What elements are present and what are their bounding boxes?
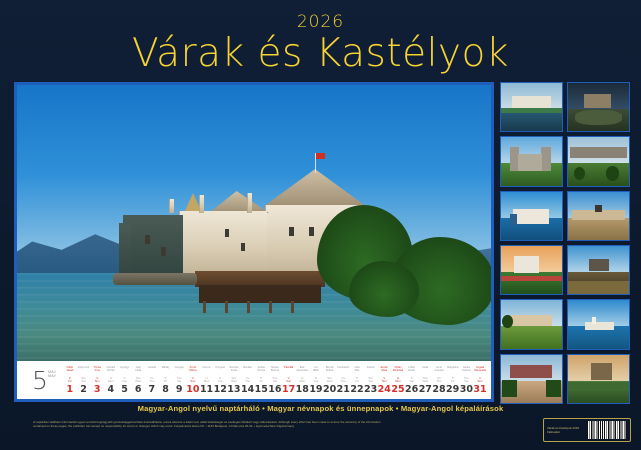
calendar-day-18[interactable]: Erik AlexandraH Mon18 [295, 363, 309, 397]
thumbnail-brick-castle-avenue[interactable] [500, 354, 563, 404]
thumbnail-manor-house-lawn[interactable] [500, 299, 563, 349]
chimney-c [247, 193, 252, 213]
day-nameday-25: Orbán Pünkösd [391, 363, 405, 377]
poster-header: 2026 Várak és Kastélyok [0, 0, 641, 80]
day-number-18: 18 [296, 385, 309, 398]
calendar-poster: 2026 Várak és Kastélyok [0, 0, 641, 450]
calendar-day-6[interactable]: Ivett FridaSze Wed6 [131, 363, 145, 397]
tagline: Magyar-Angol nyelvű naptárháló • Magyar … [0, 404, 641, 413]
wooden-gallery-deck [199, 285, 321, 303]
flag [316, 153, 325, 159]
thumbnail-ground [568, 218, 629, 240]
calendar-day-17[interactable]: PaszkálV Sun17 [282, 363, 296, 397]
day-nameday-17: Paszkál [282, 363, 296, 377]
day-number-30: 30 [460, 385, 473, 398]
day-nameday-28: Emil Csanád [432, 363, 446, 377]
day-nameday-19: Ivó Milán [309, 363, 323, 377]
day-number-14: 14 [241, 385, 254, 398]
thumbnail-element-2 [546, 380, 561, 397]
calendar-day-3[interactable]: Tímea IrmaV Sun3 [90, 363, 104, 397]
day-of-week-11: H Mon [204, 377, 209, 384]
day-of-week-15: P Fri [260, 377, 263, 384]
day-nameday-10: Ármin Pálma [186, 363, 200, 377]
tree-cluster-mid [349, 261, 419, 317]
day-nameday-30: Janka Zsanett [459, 363, 473, 377]
window-4 [241, 243, 245, 251]
calendar-day-7[interactable]: GizellaCs Thu7 [145, 363, 159, 397]
calendar-day-11[interactable]: FerencH Mon11 [200, 363, 214, 397]
day-of-week-26: K Tue [409, 377, 414, 384]
day-nameday-22: Júlia Rita [350, 363, 364, 377]
day-number-24: 24 [378, 385, 391, 398]
calendar-day-20[interactable]: Bernát FelíciaSze Wed20 [323, 363, 337, 397]
day-of-week-5: K Tue [122, 377, 127, 384]
day-of-week-9: Szo Sat [177, 377, 182, 384]
day-of-week-31: V Sun [478, 377, 483, 384]
thumbnail-hilltop-fortress-aerial[interactable] [567, 82, 630, 132]
thumbnail-ground [501, 326, 562, 348]
day-nameday-3: Tímea Irma [90, 363, 104, 377]
calendar-day-14[interactable]: BonifácCs Thu14 [241, 363, 255, 397]
turret-wall [179, 211, 211, 279]
calendar-day-15[interactable]: Zsófia SzonjaP Fri15 [254, 363, 268, 397]
day-number-6: 6 [135, 385, 142, 398]
day-nameday-29: Magdolna [446, 363, 460, 377]
day-of-week-17: V Sun [286, 377, 291, 384]
day-nameday-12: Pongrác [213, 363, 227, 377]
calendar-day-2[interactable]: ZsigmondSzo Sat2 [77, 363, 91, 397]
day-nameday-9: Gergely [172, 363, 186, 377]
page-title: Várak és Kastélyok [0, 34, 641, 75]
thumbnail-element-0 [589, 259, 610, 272]
day-of-week-1: P Fri [68, 377, 71, 384]
day-of-week-23: Szo Sat [368, 377, 373, 384]
day-nameday-8: Mihály [159, 363, 173, 377]
day-nameday-15: Zsófia Szonja [254, 363, 268, 377]
thumbnail-element-1 [501, 108, 562, 113]
day-number-2: 2 [80, 385, 87, 398]
day-nameday-23: Dezső [364, 363, 378, 377]
month-number: 5 [32, 368, 48, 393]
fineprint-disclaimer: A naptárban található információk ugyan … [33, 420, 383, 428]
day-number-7: 7 [149, 385, 156, 398]
barcode-box: Várak és Kastélyok 2026 Falinaptár [543, 418, 631, 442]
day-of-week-24: V Sun [382, 377, 387, 384]
day-nameday-14: Bonifác [241, 363, 255, 377]
day-of-week-19: K Tue [314, 377, 319, 384]
calendar-month-block: 5 MÁJ MAY [17, 361, 63, 399]
year-label: 2026 [0, 14, 641, 31]
thumbnail-baroque-palace-courtyard[interactable] [567, 191, 630, 241]
calendar-day-5[interactable]: GyörgyiK Tue5 [118, 363, 132, 397]
calendar-day-27[interactable]: HellaSze Wed27 [418, 363, 432, 397]
day-number-19: 19 [309, 385, 322, 398]
rocky-shore [113, 273, 197, 285]
thumbnail-element-0 [570, 147, 626, 158]
window-6 [309, 227, 314, 236]
calendar-day-8[interactable]: MihályP Fri8 [159, 363, 173, 397]
day-number-31: 31 [473, 385, 486, 398]
calendar-day-12[interactable]: PongrácK Tue12 [213, 363, 227, 397]
window-5 [289, 227, 294, 236]
day-number-5: 5 [121, 385, 128, 398]
main-photo-panel: 5 MÁJ MAY Fülöp JakabP Fri1ZsigmondSzo S… [14, 82, 494, 402]
thumbnail-element-1 [568, 382, 629, 392]
day-nameday-31: Angéla Petronella [473, 363, 487, 377]
day-of-week-28: Cs Thu [437, 377, 442, 384]
barcode-icon [587, 421, 627, 439]
calendar-strip: 5 MÁJ MAY Fülöp JakabP Fri1ZsigmondSzo S… [17, 361, 491, 399]
day-nameday-6: Ivett Frida [131, 363, 145, 377]
calendar-day-19[interactable]: Ivó MilánK Tue19 [309, 363, 323, 397]
calendar-day-16[interactable]: Mózes BotondSzo Sat16 [268, 363, 282, 397]
thumbnail-element-1 [575, 110, 621, 124]
day-nameday-13: Szervác Imola [227, 363, 241, 377]
thumbnail-twin-tower-castle[interactable] [500, 136, 563, 186]
thumbnail-element-1 [510, 214, 517, 225]
day-of-week-3: V Sun [95, 377, 100, 384]
thumbnail-island-ruin-loch[interactable] [567, 245, 630, 295]
day-nameday-26: Fülöp Evelin [405, 363, 419, 377]
thumbnail-element-0 [511, 315, 552, 327]
calendar-day-28[interactable]: Emil CsanádCs Thu28 [432, 363, 446, 397]
thumbnail-element-0 [584, 94, 611, 108]
pier-post-4 [269, 301, 272, 313]
day-number-12: 12 [214, 385, 227, 398]
main-photo-chillon-castle [17, 85, 491, 361]
day-of-week-6: Sze Wed [135, 377, 141, 384]
day-of-week-27: Sze Wed [422, 377, 428, 384]
thumbnail-palace-topiary-garden[interactable] [567, 136, 630, 186]
pier-post-5 [291, 301, 294, 313]
day-nameday-21: Konstantin [336, 363, 350, 377]
day-of-week-10: V Sun [190, 377, 195, 384]
thumbnail-element-1 [568, 281, 629, 295]
barcode-label: Várak és Kastélyok 2026 Falinaptár [547, 426, 584, 435]
thumbnail-element-0 [514, 256, 538, 273]
calendar-day-21[interactable]: KonstantinCs Thu21 [336, 363, 350, 397]
day-number-25: 25 [391, 385, 404, 398]
calendar-day-22[interactable]: Júlia RitaP Fri22 [350, 363, 364, 397]
calendar-day-31[interactable]: Angéla PetronellaV Sun31 [473, 363, 487, 397]
calendar-day-13[interactable]: Szervác ImolaSze Wed13 [227, 363, 241, 397]
month-name-label: MÁJ MAY [48, 370, 56, 378]
thumbnail-element-2 [606, 166, 619, 180]
day-nameday-7: Gizella [145, 363, 159, 377]
thumbnail-seaside-white-castle[interactable] [500, 191, 563, 241]
day-number-4: 4 [108, 385, 115, 398]
thumbnail-grid [500, 82, 630, 404]
day-nameday-1: Fülöp Jakab [63, 363, 77, 377]
day-of-week-20: Sze Wed [327, 377, 333, 384]
day-nameday-11: Ferenc [200, 363, 214, 377]
pier-post-3 [247, 301, 250, 313]
thumbnail-element-1 [502, 380, 517, 397]
calendar-day-9[interactable]: GergelySzo Sat9 [172, 363, 186, 397]
day-nameday-27: Hella [418, 363, 432, 377]
day-number-27: 27 [419, 385, 432, 398]
day-of-week-7: Cs Thu [149, 377, 154, 384]
keep-roof [263, 169, 367, 207]
day-number-20: 20 [323, 385, 336, 398]
calendar-day-23[interactable]: DezsőSzo Sat23 [364, 363, 378, 397]
day-nameday-16: Mózes Botond [268, 363, 282, 377]
day-nameday-5: Györgyi [118, 363, 132, 377]
calendar-day-26[interactable]: Fülöp EvelinK Tue26 [405, 363, 419, 397]
thumbnail-chateau-lake-reflection[interactable] [500, 82, 563, 132]
thumbnail-element-1 [592, 317, 596, 324]
day-number-13: 13 [227, 385, 240, 398]
day-of-week-21: Cs Thu [341, 377, 346, 384]
thumbnail-element-0 [585, 322, 614, 331]
mid-wall-a [209, 211, 267, 279]
thumbnail-island-fortress-sea[interactable] [567, 299, 630, 349]
dark-stone-buttress [119, 223, 131, 279]
window-3 [225, 229, 229, 237]
day-of-week-8: P Fri [164, 377, 167, 384]
day-of-week-18: H Mon [300, 377, 305, 384]
day-of-week-2: Szo Sat [81, 377, 86, 384]
day-number-17: 17 [282, 385, 295, 398]
day-number-28: 28 [432, 385, 445, 398]
chimney-b [199, 195, 204, 213]
day-number-21: 21 [337, 385, 350, 398]
day-nameday-20: Bernát Felícia [323, 363, 337, 377]
window-2 [161, 247, 166, 256]
day-of-week-16: Szo Sat [273, 377, 278, 384]
day-nameday-4: Mónika Flórián [104, 363, 118, 377]
calendar-day-29[interactable]: MagdolnaP Fri29 [446, 363, 460, 397]
calendar-day-25[interactable]: Orbán PünkösdH Mon25 [391, 363, 405, 397]
thumbnail-element-0 [513, 209, 548, 223]
thumbnail-element-1 [595, 205, 602, 212]
thumbnail-element-2 [518, 154, 542, 171]
day-of-week-30: Szo Sat [464, 377, 469, 384]
thumbnail-element-0 [512, 96, 551, 109]
day-of-week-25: H Mon [395, 377, 400, 384]
day-number-16: 16 [268, 385, 281, 398]
thumbnail-japanese-castle-sunset[interactable] [500, 245, 563, 295]
day-of-week-12: K Tue [218, 377, 223, 384]
calendar-day-24[interactable]: Eszter ElizaV Sun24 [377, 363, 391, 397]
chimney-a [169, 199, 174, 213]
day-of-week-14: Cs Thu [245, 377, 250, 384]
day-nameday-18: Erik Alexandra [295, 363, 309, 377]
day-number-3: 3 [94, 385, 101, 398]
dark-stone-block [123, 215, 183, 279]
pier-post-2 [225, 301, 228, 313]
day-number-11: 11 [200, 385, 213, 398]
day-number-23: 23 [364, 385, 377, 398]
mid-roof-a [209, 191, 269, 213]
calendar-day-4[interactable]: Mónika FlóriánH Mon4 [104, 363, 118, 397]
calendar-day-1[interactable]: Fülöp JakabP Fri1 [63, 363, 77, 397]
day-number-22: 22 [350, 385, 363, 398]
thumbnail-element-1 [541, 147, 551, 171]
calendar-day-30[interactable]: Janka ZsanettSzo Sat30 [459, 363, 473, 397]
thumbnail-element-0 [591, 363, 612, 379]
calendar-day-10[interactable]: Ármin PálmaV Sun10 [186, 363, 200, 397]
day-number-1: 1 [67, 385, 74, 398]
thumbnail-cliff-castle-dusk[interactable] [567, 354, 630, 404]
day-number-8: 8 [162, 385, 169, 398]
day-of-week-29: P Fri [451, 377, 454, 384]
pier-post-1 [203, 301, 206, 313]
day-nameday-2: Zsigmond [77, 363, 91, 377]
day-number-10: 10 [186, 385, 199, 398]
thumbnail-element-1 [574, 167, 585, 180]
day-nameday-24: Eszter Eliza [377, 363, 391, 377]
day-of-week-22: P Fri [355, 377, 358, 384]
thumbnail-element-1 [501, 276, 562, 281]
thumbnail-element-0 [510, 365, 553, 378]
day-number-26: 26 [405, 385, 418, 398]
window-1 [145, 235, 150, 244]
day-number-15: 15 [255, 385, 268, 398]
day-of-week-4: H Mon [108, 377, 113, 384]
calendar-days-row: Fülöp JakabP Fri1ZsigmondSzo Sat2Tímea I… [63, 361, 491, 399]
day-number-9: 9 [176, 385, 183, 398]
day-number-29: 29 [446, 385, 459, 398]
day-of-week-13: Sze Wed [231, 377, 237, 384]
